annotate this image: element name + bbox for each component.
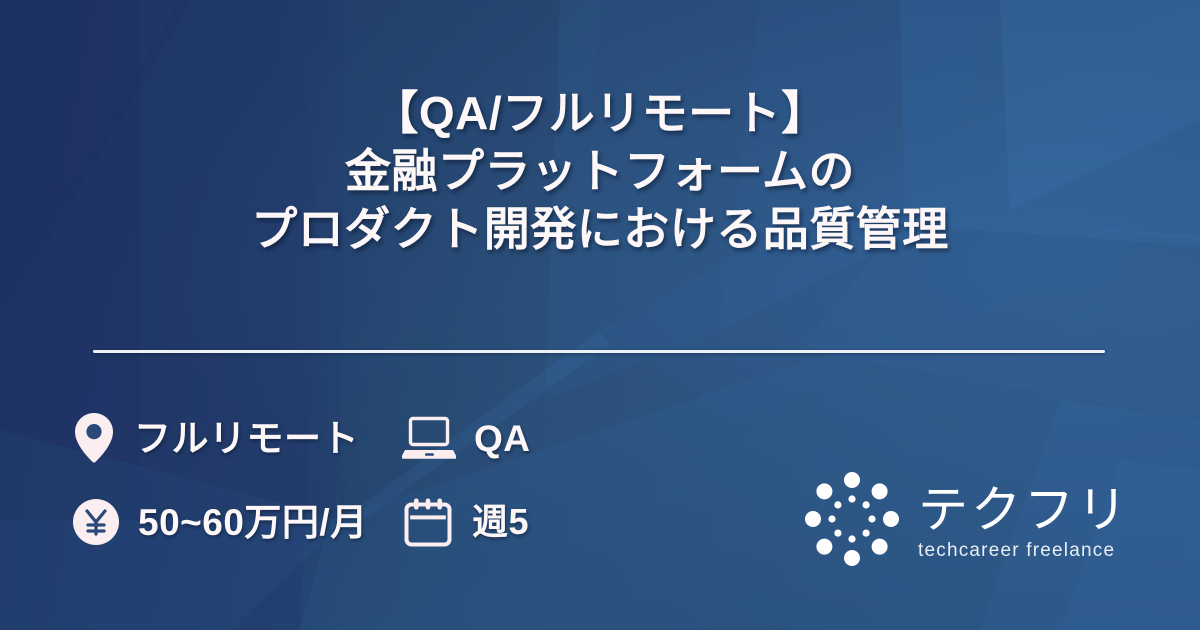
meta-label-location: フルリモート: [134, 420, 359, 457]
meta-item-salary: 50~60万円/月: [72, 498, 402, 546]
meta-label-salary: 50~60万円/月: [138, 504, 368, 541]
brand-logo[interactable]: テクフリ techcareer freelance: [804, 471, 1130, 572]
job-banner-card: 【QA/フルリモート】 金融プラットフォームの プロダクト開発における品質管理 …: [0, 0, 1200, 630]
techfree-dot-mark-icon: [804, 471, 900, 572]
laptop-icon: [402, 415, 456, 461]
meta-item-days: 週5: [402, 497, 712, 547]
logo-brand-name-jp: テクフリ: [918, 482, 1130, 538]
job-meta-list: フルリモート QA: [72, 396, 712, 564]
location-pin-icon: [72, 412, 116, 464]
meta-item-location: フルリモート: [72, 412, 402, 464]
title-line-2: 金融プラットフォームの: [0, 142, 1200, 200]
calendar-icon: [402, 497, 454, 547]
yen-coin-icon: [72, 498, 120, 546]
horizontal-divider: [93, 350, 1105, 353]
banner-title: 【QA/フルリモート】 金融プラットフォームの プロダクト開発における品質管理: [0, 84, 1200, 258]
title-line-1: 【QA/フルリモート】: [0, 84, 1200, 142]
meta-item-role: QA: [402, 415, 712, 461]
logo-brand-tagline-en: techcareer freelance: [918, 540, 1115, 562]
meta-label-days: 週5: [472, 504, 529, 540]
meta-label-role: QA: [474, 420, 531, 457]
title-line-3: プロダクト開発における品質管理: [0, 200, 1200, 258]
